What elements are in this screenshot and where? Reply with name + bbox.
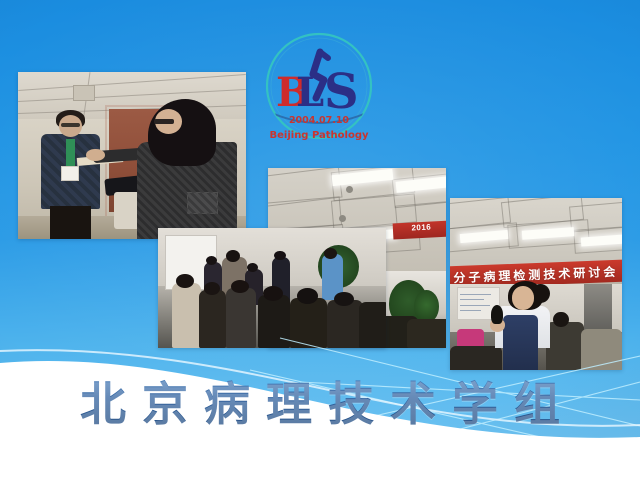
presentation-slide: B L S 2004.07.10 Beijing Pathology: [0, 0, 640, 480]
svg-text:S: S: [324, 64, 359, 120]
beijing-pathology-logo: B L S 2004.07.10 Beijing Pathology: [258, 28, 380, 150]
photo-banner-seminar-text: 分子病理检测技术研讨会: [453, 263, 619, 286]
decorative-wave: [0, 345, 640, 480]
photo-banner-2016-text: 2016: [392, 221, 446, 237]
photo-two-women-corridor: [18, 72, 246, 239]
photo-banner-2016: 2016: [392, 221, 446, 240]
logo-date: 2004.07.10: [289, 115, 349, 126]
logo-subtitle: Beijing Pathology: [270, 130, 369, 141]
